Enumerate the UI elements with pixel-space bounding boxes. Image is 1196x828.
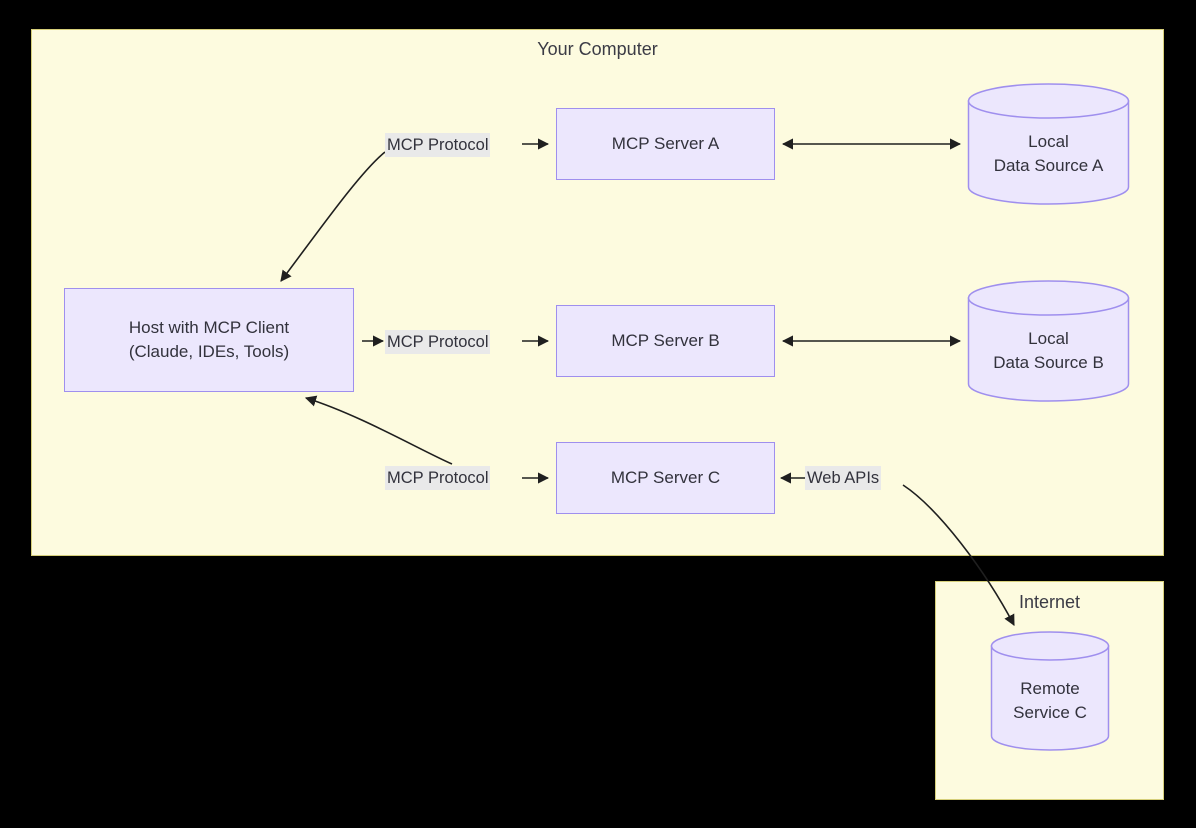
node-mcp-server-a-label: MCP Server A xyxy=(612,132,719,156)
node-host-line-1: Host with MCP Client xyxy=(129,316,289,340)
diagram-canvas: Your Computer Internet xyxy=(0,0,1196,828)
node-mcp-server-b[interactable]: MCP Server B xyxy=(556,305,775,377)
node-local-data-source-b[interactable]: Local Data Source B xyxy=(967,279,1130,403)
region-internet-title: Internet xyxy=(936,592,1163,613)
edge-label-web-apis: Web APIs xyxy=(805,466,881,490)
node-remote-service-c[interactable]: Remote Service C xyxy=(990,631,1110,752)
node-host-line-2: (Claude, IDEs, Tools) xyxy=(129,340,289,364)
edge-label-mcp-protocol-b: MCP Protocol xyxy=(385,330,490,354)
edge-label-mcp-protocol-c: MCP Protocol xyxy=(385,466,490,490)
region-your-computer-title: Your Computer xyxy=(32,39,1163,60)
node-host-with-mcp-client[interactable]: Host with MCP Client (Claude, IDEs, Tool… xyxy=(64,288,354,392)
node-mcp-server-a[interactable]: MCP Server A xyxy=(556,108,775,180)
node-mcp-server-c-label: MCP Server C xyxy=(611,466,720,490)
node-mcp-server-c[interactable]: MCP Server C xyxy=(556,442,775,514)
node-local-data-source-a[interactable]: Local Data Source A xyxy=(967,82,1130,206)
edge-label-mcp-protocol-a: MCP Protocol xyxy=(385,133,490,157)
node-mcp-server-b-label: MCP Server B xyxy=(611,329,719,353)
